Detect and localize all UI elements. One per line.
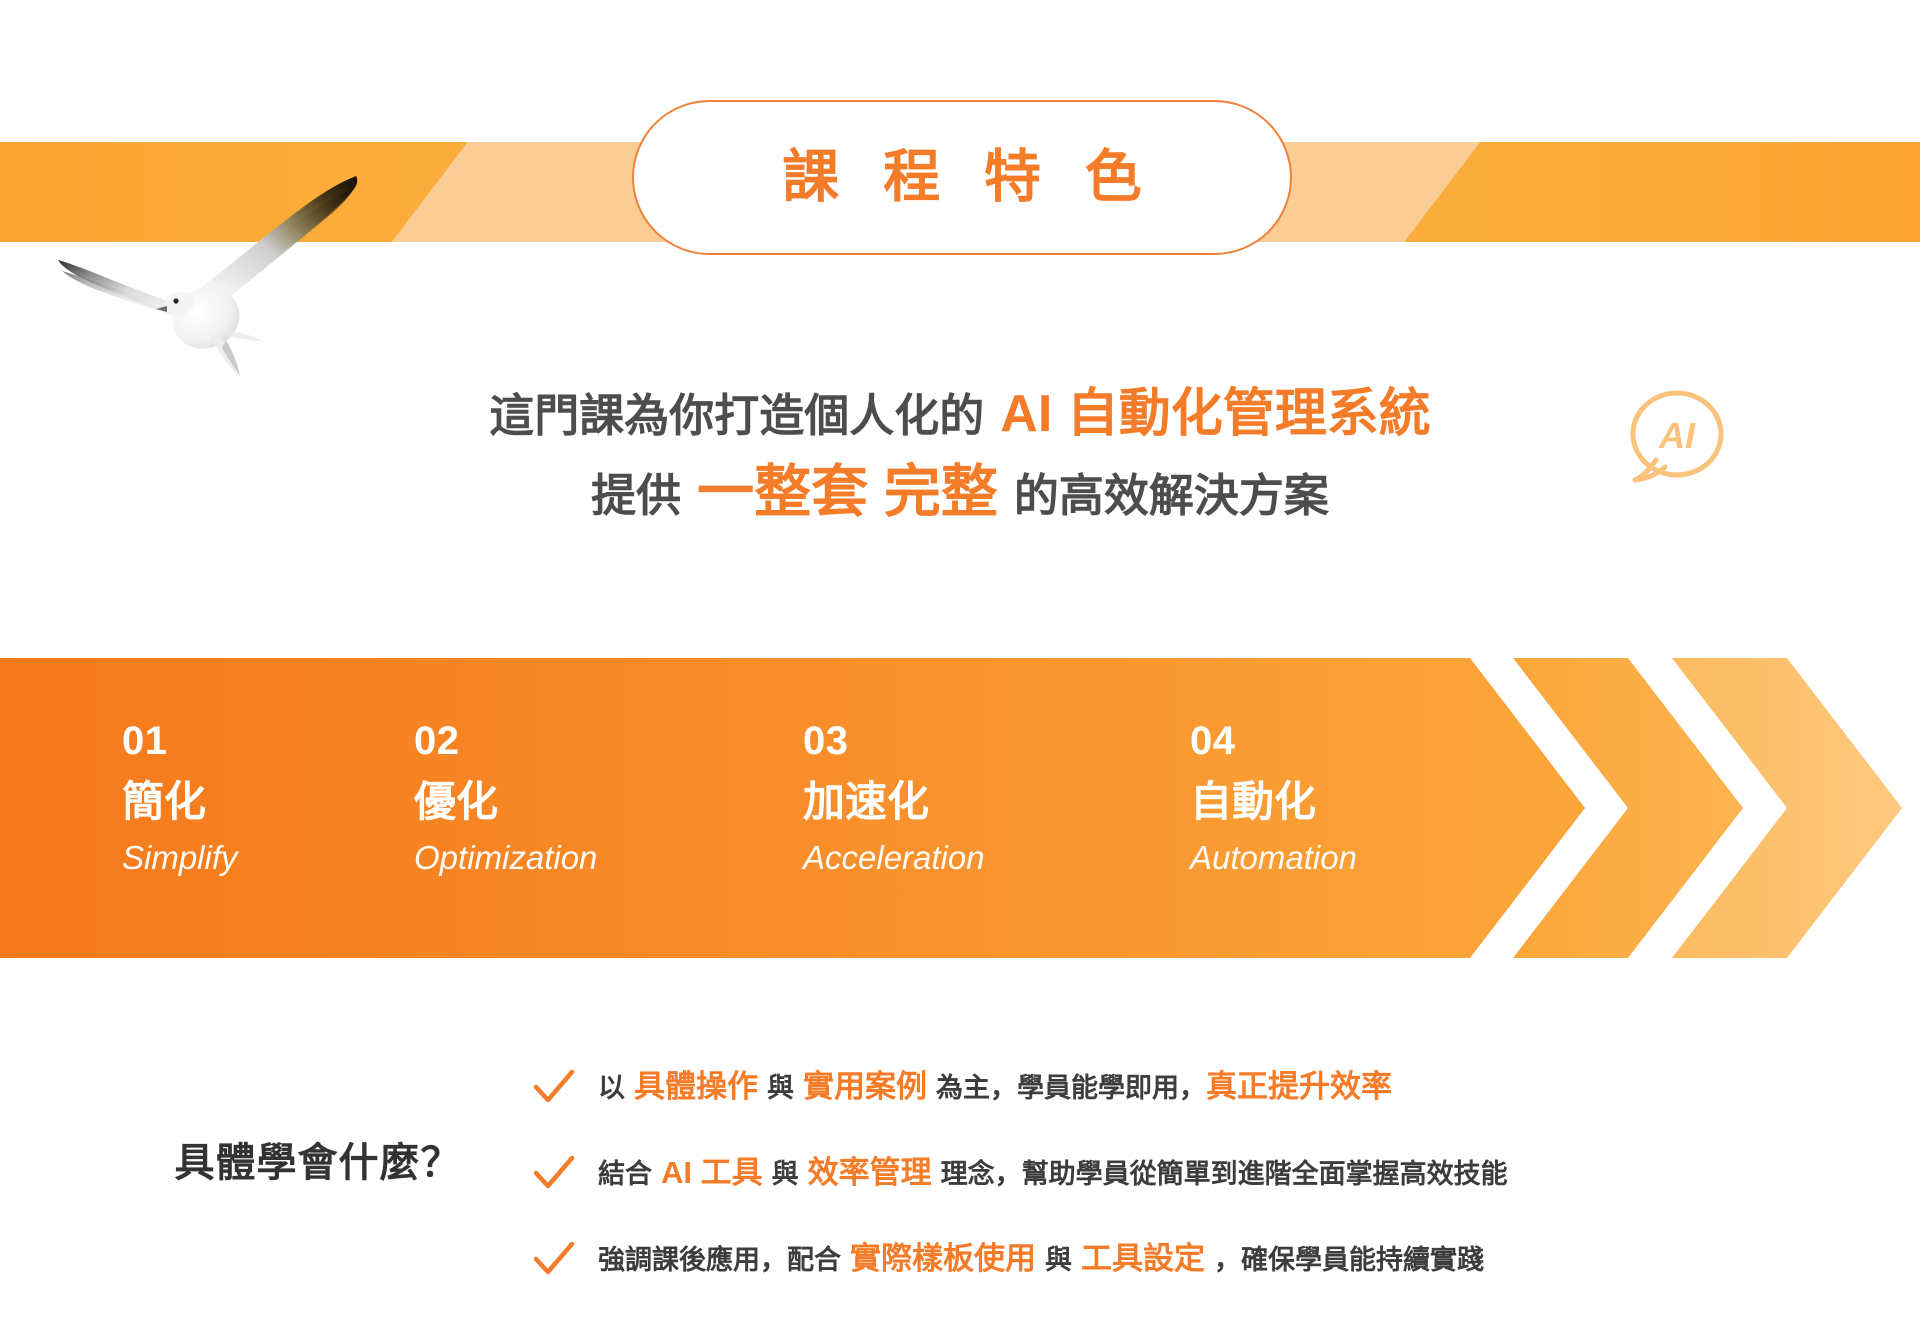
seagull-icon: [48, 140, 388, 385]
ck-a2: 效率管理: [808, 1155, 932, 1190]
list-item-text: 以具體操作與實用案例為主，學員能學即用，真正提升效率: [598, 1068, 1392, 1105]
learning-outcomes-list: 以具體操作與實用案例為主，學員能學即用，真正提升效率 結合AI 工具與效率管理理…: [528, 1053, 1868, 1311]
ck-p1: 以: [598, 1073, 625, 1103]
headline-line1-prefix: 這門課為你打造個人化的: [489, 390, 984, 441]
ck-a2: 實用案例: [803, 1069, 927, 1104]
ck-p2: 與: [1045, 1245, 1072, 1275]
headline-line2-suffix: 的高效解決方案: [1014, 470, 1329, 521]
learning-outcomes-section: 具體學會什麼？ 以具體操作與實用案例為主，學員能學即用，真正提升效率 結合AI …: [0, 1035, 1920, 1285]
list-item: 以具體操作與實用案例為主，學員能學即用，真正提升效率: [528, 1053, 1868, 1121]
ai-bubble-label: AI: [1658, 415, 1696, 456]
ck-a2: 工具設定: [1081, 1241, 1205, 1276]
course-features-title-pill: 課 程 特 色: [632, 100, 1292, 255]
list-item-text: 強調課後應用，配合實際樣板使用與工具設定，確保學員能持續實踐: [598, 1240, 1484, 1277]
ck-a1: AI 工具: [661, 1155, 763, 1190]
ck-p2: 與: [767, 1073, 794, 1103]
ai-speech-bubble-icon: AI: [1623, 382, 1753, 502]
ck-p3: 為主，學員能學即用，: [936, 1073, 1206, 1103]
ck-p3: ，確保學員能持續實踐: [1214, 1245, 1484, 1275]
headline-line2-accent: 一整套 完整: [697, 460, 998, 524]
ck-p3: 理念，幫助學員從簡單到進階全面掌握高效技能: [941, 1159, 1508, 1189]
page-title: 課 程 特 色: [768, 149, 1156, 206]
headline-line1-accent: AI 自動化管理系統: [1000, 385, 1430, 443]
process-chevron-band: [0, 658, 1920, 958]
check-icon: [528, 1239, 580, 1279]
list-item-text: 結合AI 工具與效率管理理念，幫助學員從簡單到進階全面掌握高效技能: [598, 1154, 1508, 1191]
list-item: 強調課後應用，配合實際樣板使用與工具設定，確保學員能持續實踐: [528, 1225, 1868, 1293]
learning-outcomes-label: 具體學會什麼？: [118, 1130, 518, 1188]
headline-line2-prefix: 提供: [591, 470, 681, 521]
list-item: 結合AI 工具與效率管理理念，幫助學員從簡單到進階全面掌握高效技能: [528, 1139, 1868, 1207]
ck-a1: 實際樣板使用: [850, 1241, 1036, 1276]
ck-a3: 真正提升效率: [1206, 1069, 1392, 1104]
ck-p1: 強調課後應用，配合: [598, 1245, 841, 1275]
ck-a1: 具體操作: [634, 1069, 758, 1104]
check-icon: [528, 1153, 580, 1193]
check-icon: [528, 1067, 580, 1107]
ck-p1: 結合: [598, 1159, 652, 1189]
ck-p2: 與: [772, 1159, 799, 1189]
